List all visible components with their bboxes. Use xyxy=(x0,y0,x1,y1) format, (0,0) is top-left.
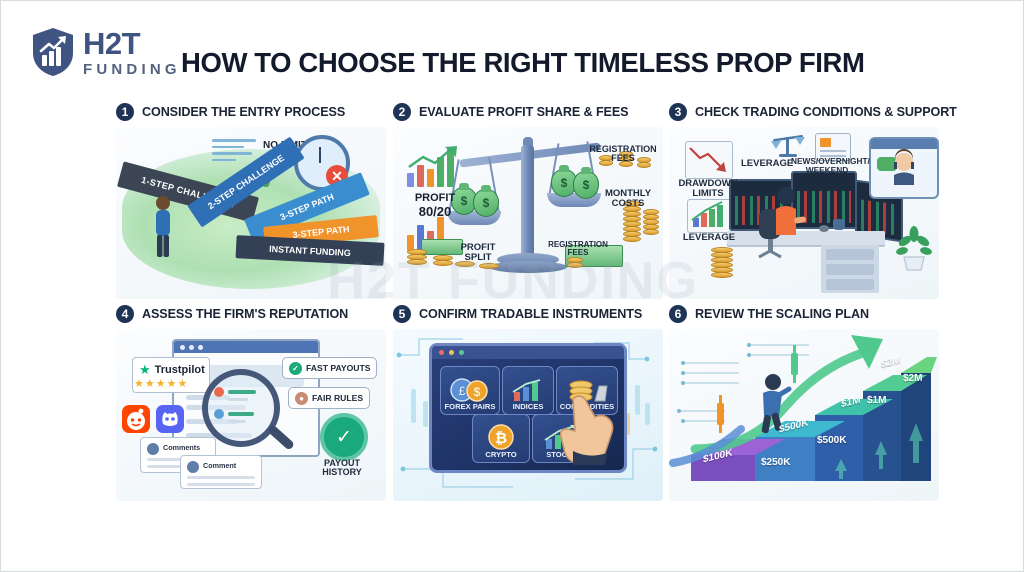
money-bag-icon xyxy=(573,171,599,199)
section-1: 1 CONSIDER THE ENTRY PROCESS NO LIMIT ✕ … xyxy=(116,101,386,299)
step-label-500k: $500K xyxy=(817,435,846,446)
section-2-title: EVALUATE PROFIT SHARE & FEES xyxy=(419,105,628,119)
svg-text:$: $ xyxy=(474,385,481,399)
section-1-title: CONSIDER THE ENTRY PROCESS xyxy=(142,105,345,119)
instrument-tile-crypto-label: CRYPTO xyxy=(485,450,516,459)
trend-arrow-icon xyxy=(407,145,467,171)
bitcoin-icon: ₿ xyxy=(486,424,516,450)
section-3-badge: 3 xyxy=(669,103,687,121)
currency-coins-icon: £ $ xyxy=(448,378,492,402)
section-2-illustration: PROFIT 80/20 PROFIT SPLIT REGISTRATION F… xyxy=(393,127,663,299)
comment-label: Comment xyxy=(203,461,236,470)
leverage-chart-icon xyxy=(687,199,735,233)
balance-scale-icon xyxy=(767,133,809,157)
step-label-250k: $250K xyxy=(761,457,790,468)
section-5-illustration: £ $ FOREX PAIRS INDICES xyxy=(393,329,663,501)
section-3-illustration: DRAWDOWN LIMITS LEVERAGE NEWS/OVERNIGHT/… xyxy=(669,127,939,299)
leverage-bottom-label: LEVERAGE xyxy=(681,233,737,243)
infographic-canvas: H2T FUNDING HOW TO CHOOSE THE RIGHT TIME… xyxy=(0,0,1024,572)
check-icon: ✓ xyxy=(289,362,302,375)
fair-rules-label: FAIR RULES xyxy=(312,393,363,403)
drawdown-limits-label: DRAWDOWN LIMITS xyxy=(675,179,741,199)
news-holding-label: NEWS/OVERNIGHT/ WEEKEND HOLDING xyxy=(791,157,863,183)
section-2: 2 EVALUATE PROFIT SHARE & FEES xyxy=(393,101,663,299)
section-4: 4 ASSESS THE FIRM'S REPUTATION ★ Trustpi… xyxy=(116,303,386,501)
fast-payouts-label: FAST PAYOUTS xyxy=(306,363,370,373)
section-6-badge: 6 xyxy=(669,305,687,323)
section-3-header: 3 CHECK TRADING CONDITIONS & SUPPORT xyxy=(669,101,957,123)
window-title-bar xyxy=(432,346,624,359)
coffee-cup-icon xyxy=(833,219,845,230)
reddit-icon xyxy=(122,405,150,433)
section-4-title: ASSESS THE FIRM'S REPUTATION xyxy=(142,307,348,321)
instrument-tile-indices[interactable]: INDICES xyxy=(502,366,554,415)
section-5-badge: 5 xyxy=(393,305,411,323)
leverage-top-label: LEVERAGE xyxy=(741,159,789,169)
star-rating: ★★★★★ xyxy=(134,377,188,390)
money-bag-icon xyxy=(473,189,499,217)
svg-text:₿: ₿ xyxy=(495,430,507,447)
comment-card: Comment xyxy=(180,455,262,489)
drawdown-chart-icon xyxy=(685,141,733,179)
scale-pillar xyxy=(521,145,534,257)
monthly-costs-label: MONTHLY COSTS xyxy=(599,189,657,209)
svg-text:£: £ xyxy=(459,384,466,398)
comments-label: Comments xyxy=(163,443,200,452)
payout-history-label: PAYOUT HISTORY xyxy=(316,459,368,478)
shield-chart-icon xyxy=(31,27,75,77)
section-3: 3 CHECK TRADING CONDITIONS & SUPPORT xyxy=(669,101,957,299)
person-figure xyxy=(152,195,174,259)
registration-fees-left-label: REGISTRATION FEES xyxy=(547,241,609,258)
window-title-bar xyxy=(174,341,318,353)
profit-ratio-title: PROFIT xyxy=(415,192,455,204)
coin-stack-icon xyxy=(407,249,427,264)
desk-drawers xyxy=(821,245,879,293)
support-agent-figure xyxy=(891,151,917,185)
coin-stack-icon xyxy=(711,247,733,277)
section-3-title: CHECK TRADING CONDITIONS & SUPPORT xyxy=(695,105,957,119)
instrument-tile-forex-label: FOREX PAIRS xyxy=(445,402,496,411)
step-label-1m: $1M xyxy=(867,395,886,406)
instrument-tile-forex[interactable]: £ $ FOREX PAIRS xyxy=(440,366,500,415)
profit-split-label: PROFIT SPLIT xyxy=(451,243,505,263)
section-6-illustration: $100K $250K $500K $500K $1M $1M $2M $2M xyxy=(669,329,939,501)
section-2-header: 2 EVALUATE PROFIT SHARE & FEES xyxy=(393,101,663,123)
verified-seal-icon: ✓ xyxy=(320,413,368,461)
coin-stack-icon xyxy=(433,255,453,265)
page-title: HOW TO CHOOSE THE RIGHT TIMELESS PROP FI… xyxy=(181,47,864,79)
coin-stack-icon xyxy=(567,257,583,267)
brand-name-secondary: FUNDING xyxy=(83,62,181,77)
mouse-icon xyxy=(819,225,829,232)
profit-ratio-block: PROFIT 80/20 xyxy=(403,193,467,219)
header: H2T FUNDING HOW TO CHOOSE THE RIGHT TIME… xyxy=(1,23,1024,85)
coin-stack-icon xyxy=(479,263,499,268)
section-4-illustration: ★ Trustpilot ★★★★★ ✓ xyxy=(116,329,386,501)
section-5-title: CONFIRM TRADABLE INSTRUMENTS xyxy=(419,307,642,321)
section-4-badge: 4 xyxy=(116,305,134,323)
trustpilot-label: Trustpilot xyxy=(155,364,205,376)
profit-ratio-value: 80/20 xyxy=(419,204,452,219)
star-icon: ★ xyxy=(139,362,151,378)
section-1-illustration: NO LIMIT ✕ 1-STEP CHALLENGE 2-STEP CHALL… xyxy=(116,127,386,299)
step-label-2m: $2M xyxy=(903,373,922,384)
section-1-header: 1 CONSIDER THE ENTRY PROCESS xyxy=(116,101,386,123)
fast-payouts-chip: ✓ FAST PAYOUTS xyxy=(282,357,377,379)
trader-figure xyxy=(769,185,807,245)
fair-rules-chip: ● FAIR RULES xyxy=(288,387,370,409)
brand-logo-text: H2T FUNDING xyxy=(83,28,181,77)
section-2-badge: 2 xyxy=(393,103,411,121)
avatar xyxy=(187,461,199,473)
brand-logo: H2T FUNDING xyxy=(31,27,181,77)
section-5: 5 CONFIRM TRADABLE INSTRUMENTS xyxy=(393,303,663,501)
plant-icon xyxy=(897,227,931,271)
section-6-title: REVIEW THE SCALING PLAN xyxy=(695,307,869,321)
section-6: 6 REVIEW THE SCALING PLAN xyxy=(669,303,939,501)
pointing-hand-icon xyxy=(561,393,617,465)
bar-chart-up-icon xyxy=(509,378,547,402)
section-5-header: 5 CONFIRM TRADABLE INSTRUMENTS xyxy=(393,303,663,325)
user-icon: ● xyxy=(295,392,308,405)
discord-icon xyxy=(156,405,184,433)
section-1-badge: 1 xyxy=(116,103,134,121)
section-6-header: 6 REVIEW THE SCALING PLAN xyxy=(669,303,939,325)
section-4-header: 4 ASSESS THE FIRM'S REPUTATION xyxy=(116,303,386,325)
instrument-tile-crypto[interactable]: ₿ CRYPTO xyxy=(472,414,530,463)
instant-funding-label: INSTANT FUNDING xyxy=(269,243,351,257)
brand-name-primary: H2T xyxy=(83,28,181,59)
registration-fees-right-label: REGISTRATION FEES xyxy=(589,145,657,164)
avatar xyxy=(147,443,159,455)
coin-stack-icon xyxy=(643,209,659,234)
instrument-tile-indices-label: INDICES xyxy=(513,402,544,411)
magnifier-icon xyxy=(202,369,280,447)
